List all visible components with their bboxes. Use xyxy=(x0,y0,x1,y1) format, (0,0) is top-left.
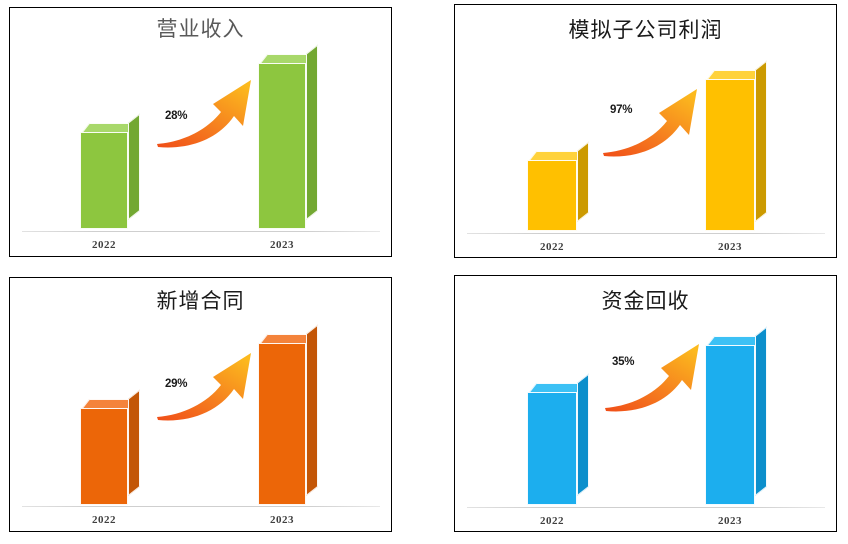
bar-2023[interactable] xyxy=(705,79,755,231)
bar-2023[interactable] xyxy=(705,345,755,505)
chart-panel-new-contracts[interactable]: 新增合同 xyxy=(9,277,392,532)
bar-front-face xyxy=(258,63,306,229)
bar-2022[interactable] xyxy=(80,408,128,505)
bar-front-face xyxy=(80,408,128,505)
category-label-2022: 2022 xyxy=(64,514,144,526)
category-label-2023: 2023 xyxy=(690,515,770,527)
bar-side-face xyxy=(755,327,767,496)
growth-percent-label: 97% xyxy=(610,104,632,116)
bar-front-face xyxy=(80,132,128,229)
chart-panel-cash-collection[interactable]: 资金回收 xyxy=(454,275,837,532)
bar-2022[interactable] xyxy=(527,392,577,505)
bar-side-face xyxy=(577,374,589,496)
bar-front-face xyxy=(705,345,755,505)
plot-area: 97% 2022 2023 xyxy=(455,5,836,257)
category-label-2023: 2023 xyxy=(242,239,322,251)
bar-front-face xyxy=(258,343,306,505)
category-label-2022: 2022 xyxy=(512,515,592,527)
bar-side-face xyxy=(128,114,140,220)
bar-side-face xyxy=(755,61,767,222)
axis-baseline xyxy=(22,506,380,507)
bar-front-face xyxy=(705,79,755,231)
axis-baseline xyxy=(467,233,825,234)
bar-side-face xyxy=(577,142,589,222)
growth-percent-label: 28% xyxy=(165,110,187,122)
bar-2022[interactable] xyxy=(80,132,128,229)
category-label-2022: 2022 xyxy=(64,239,144,251)
category-label-2023: 2023 xyxy=(242,514,322,526)
bar-front-face xyxy=(527,160,577,231)
plot-area: 29% 2022 2023 xyxy=(10,278,391,531)
bar-side-face xyxy=(306,45,318,220)
dashboard: 营业收入 xyxy=(0,0,848,544)
bar-front-face xyxy=(527,392,577,505)
bar-2022[interactable] xyxy=(527,160,577,231)
growth-percent-label: 35% xyxy=(612,356,634,368)
bar-side-face xyxy=(306,325,318,496)
category-label-2023: 2023 xyxy=(690,241,770,253)
chart-panel-subsidiary-profit[interactable]: 模拟子公司利润 xyxy=(454,4,837,258)
axis-baseline xyxy=(22,231,380,232)
growth-arrow-icon xyxy=(601,77,711,162)
axis-baseline xyxy=(467,507,825,508)
growth-arrow-icon xyxy=(603,332,713,417)
growth-percent-label: 29% xyxy=(165,378,187,390)
chart-panel-revenue[interactable]: 营业收入 xyxy=(9,7,392,257)
plot-area: 28% 2022 2023 xyxy=(10,8,391,256)
bar-2023[interactable] xyxy=(258,63,306,229)
bar-side-face xyxy=(128,390,140,496)
bar-2023[interactable] xyxy=(258,343,306,505)
category-label-2022: 2022 xyxy=(512,241,592,253)
plot-area: 35% 2022 2023 xyxy=(455,276,836,531)
